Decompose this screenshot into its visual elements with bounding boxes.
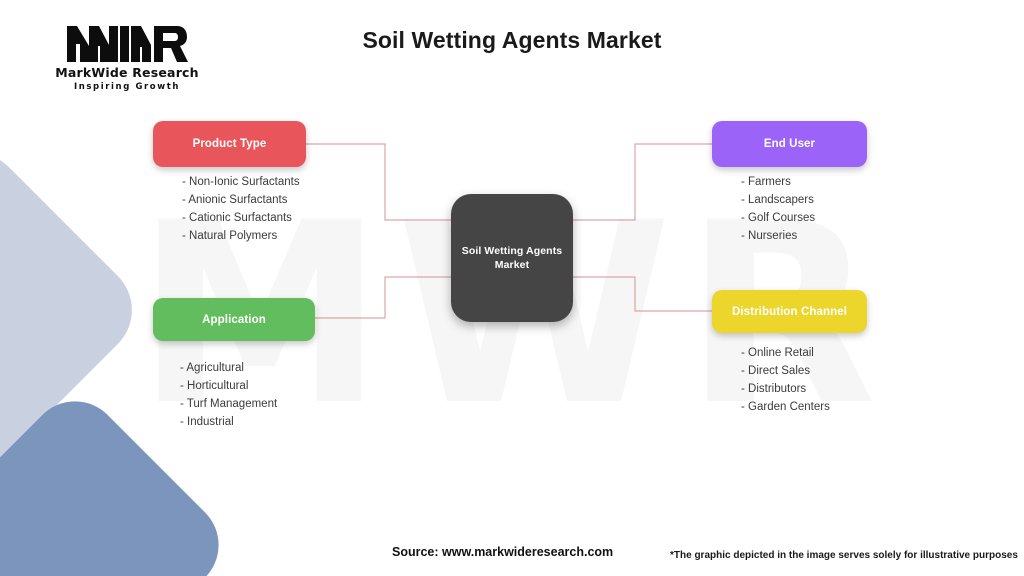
connector-end-user	[572, 144, 712, 220]
center-node[interactable]: Soil Wetting Agents Market	[451, 194, 573, 322]
list-item: - Garden Centers	[741, 398, 830, 416]
list-item: - Horticultural	[180, 377, 277, 395]
infographic-canvas: MWR MarkWide Research Inspiring Growth S…	[0, 0, 1024, 576]
list-item: - Natural Polymers	[182, 227, 300, 245]
list-item: - Golf Courses	[741, 209, 815, 227]
connector-distribution-channel	[572, 277, 712, 311]
node-application[interactable]: Application	[153, 298, 315, 341]
node-product-type[interactable]: Product Type	[153, 121, 306, 167]
connector-application	[315, 277, 452, 318]
list-item: - Agricultural	[180, 359, 277, 377]
items-distribution-channel: - Online Retail - Direct Sales - Distrib…	[741, 344, 830, 417]
node-distribution-channel-label: Distribution Channel	[732, 306, 847, 318]
items-application: - Agricultural - Horticultural - Turf Ma…	[180, 359, 277, 432]
list-item: - Farmers	[741, 173, 815, 191]
disclaimer-text: *The graphic depicted in the image serve…	[670, 550, 1018, 561]
node-end-user[interactable]: End User	[712, 121, 867, 167]
items-end-user: - Farmers - Landscapers - Golf Courses -…	[741, 173, 815, 246]
list-item: - Turf Management	[180, 395, 277, 413]
list-item: - Non-Ionic Surfactants	[182, 173, 300, 191]
node-end-user-label: End User	[764, 138, 815, 150]
list-item: - Distributors	[741, 380, 830, 398]
list-item: - Anionic Surfactants	[182, 191, 300, 209]
list-item: - Direct Sales	[741, 362, 830, 380]
items-product-type: - Non-Ionic Surfactants - Anionic Surfac…	[182, 173, 300, 246]
node-distribution-channel[interactable]: Distribution Channel	[712, 290, 867, 333]
node-product-type-label: Product Type	[193, 138, 267, 150]
list-item: - Cationic Surfactants	[182, 209, 300, 227]
list-item: - Industrial	[180, 413, 277, 431]
list-item: - Nurseries	[741, 227, 815, 245]
center-node-label: Soil Wetting Agents Market	[459, 244, 565, 272]
list-item: - Online Retail	[741, 344, 830, 362]
list-item: - Landscapers	[741, 191, 815, 209]
connector-product-type	[306, 144, 452, 220]
node-application-label: Application	[202, 314, 266, 326]
source-text: Source: www.markwideresearch.com	[392, 545, 613, 559]
